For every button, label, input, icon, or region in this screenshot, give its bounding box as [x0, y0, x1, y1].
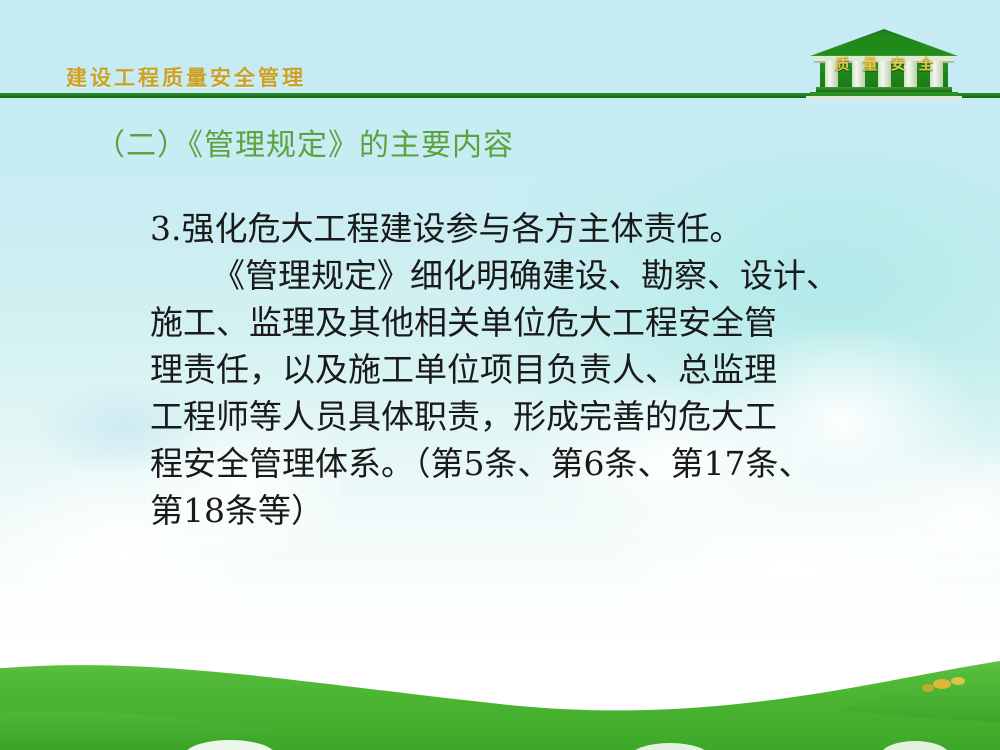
- body-line: 第18条等）: [150, 487, 950, 534]
- slide-content: （二）《管理规定》的主要内容 3.强化危大工程建设参与各方主体责任。 《管理规定…: [0, 105, 1000, 750]
- slide-canvas: 建设工程质量安全管理: [0, 0, 1000, 750]
- body-line: 3.强化危大工程建设参与各方主体责任。: [150, 205, 950, 252]
- section-heading: （二）《管理规定》的主要内容: [95, 126, 514, 166]
- body-line: 工程师等人员具体职责，形成完善的危大工: [150, 393, 950, 440]
- quality-safety-temple-logo: 质量安全: [806, 26, 962, 100]
- body-line: 施工、监理及其他相关单位危大工程安全管: [150, 299, 950, 346]
- body-line: 程安全管理体系。（第5条、第6条、第17条、: [150, 440, 950, 487]
- header-title: 建设工程质量安全管理: [66, 62, 306, 92]
- body-line: 理责任，以及施工单位项目负责人、总监理: [150, 346, 950, 393]
- body-line: 《管理规定》细化明确建设、勘察、设计、: [150, 252, 950, 299]
- slide-header: 建设工程质量安全管理: [0, 0, 1000, 105]
- body-text-block: 3.强化危大工程建设参与各方主体责任。 《管理规定》细化明确建设、勘察、设计、 …: [150, 205, 950, 534]
